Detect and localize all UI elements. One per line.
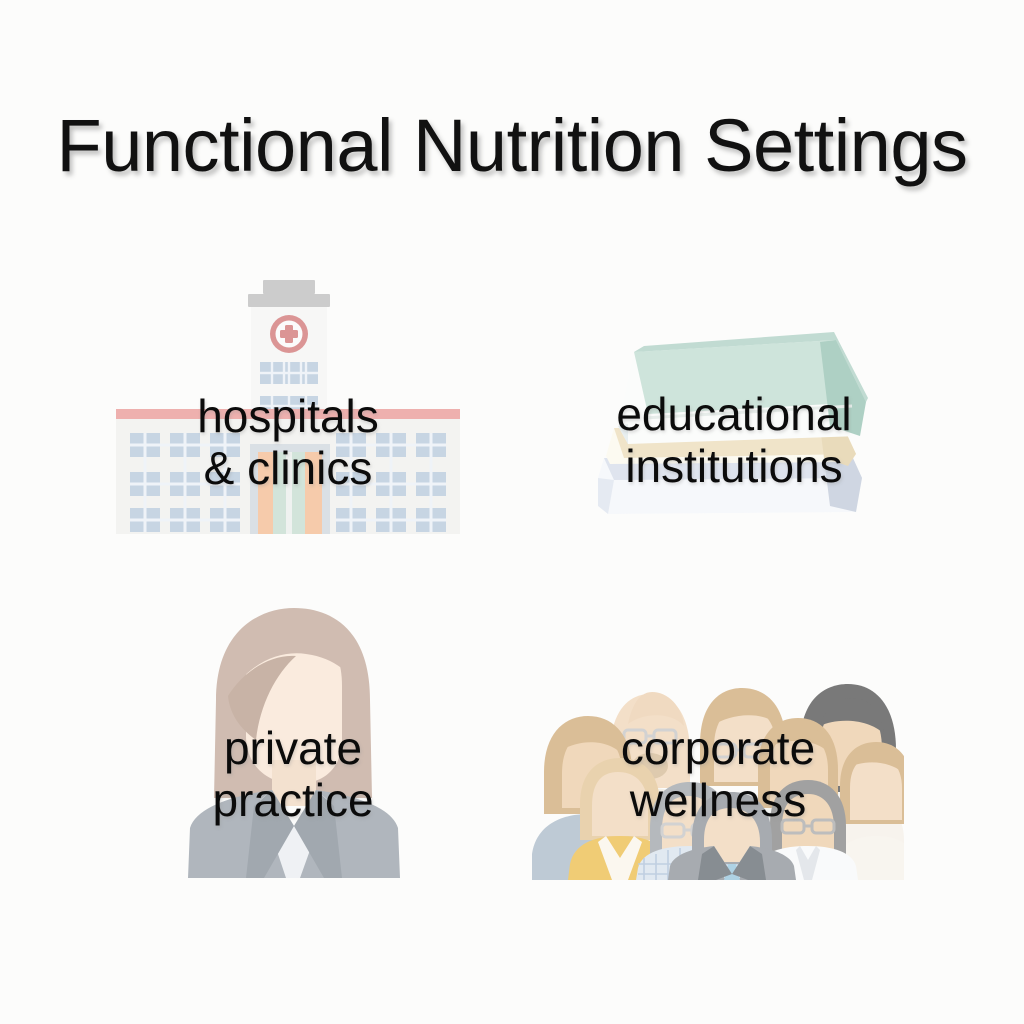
item-corporate-wellness[interactable]: corporate wellness bbox=[532, 668, 904, 880]
item-hospitals-and-clinics[interactable]: hospitals & clinics bbox=[108, 276, 468, 538]
poster-canvas: Functional Nutrition Settings bbox=[0, 0, 1024, 1024]
item-label-private-practice: private practice bbox=[153, 722, 433, 826]
page-title: Functional Nutrition Settings bbox=[0, 104, 1024, 188]
item-label-hospitals-and-clinics: hospitals & clinics bbox=[118, 390, 458, 494]
item-educational-institutions[interactable]: educational institutions bbox=[584, 306, 884, 534]
item-label-educational-institutions: educational institutions bbox=[574, 388, 894, 492]
item-private-practice[interactable]: private practice bbox=[168, 600, 418, 878]
item-label-corporate-wellness: corporate wellness bbox=[553, 722, 883, 826]
